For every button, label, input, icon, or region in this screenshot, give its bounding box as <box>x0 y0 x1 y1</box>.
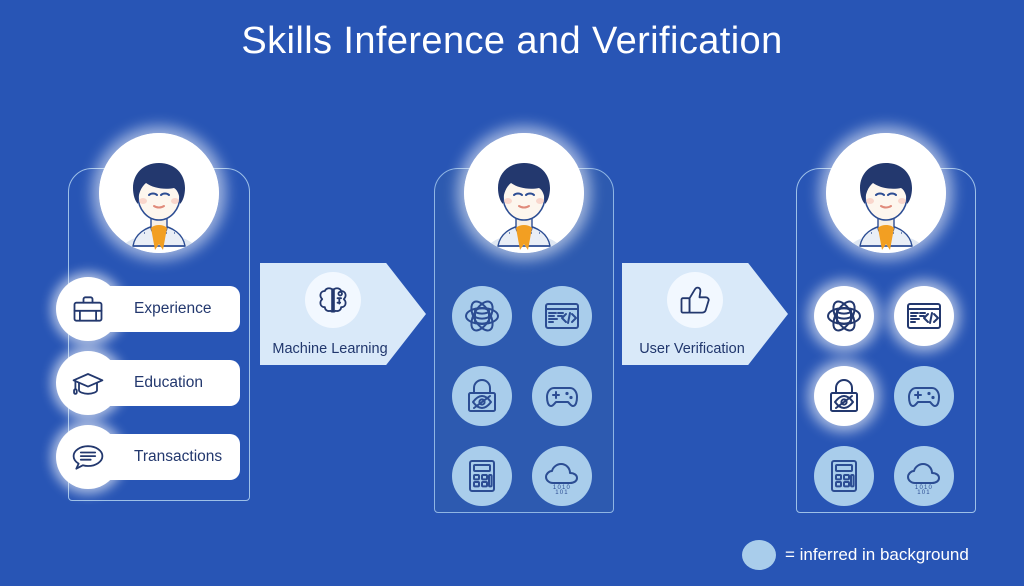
list-item-transactions[interactable]: Transactions <box>78 434 240 480</box>
graduation-cap-icon <box>56 351 120 415</box>
game-controller-icon <box>904 376 944 416</box>
code-window-icon <box>542 296 582 336</box>
code-window-icon <box>904 296 944 336</box>
skill-code-window[interactable] <box>532 286 592 346</box>
cloud-binary-row2: 101 <box>917 490 931 496</box>
legend-label: = inferred in background <box>785 545 969 565</box>
list-item-education[interactable]: Education <box>78 360 240 406</box>
atom-database-icon <box>462 296 502 336</box>
lock-privacy-icon <box>462 376 502 416</box>
diagram-canvas: Skills Inference and Verification <box>0 0 1024 586</box>
briefcase-icon <box>56 277 120 341</box>
brain-icon <box>305 272 361 328</box>
avatar <box>826 133 946 253</box>
game-controller-icon <box>542 376 582 416</box>
user-avatar-icon <box>99 133 219 253</box>
speech-bubble-icon <box>56 425 120 489</box>
page-title: Skills Inference and Verification <box>0 20 1024 63</box>
list-item-experience[interactable]: Experience <box>78 286 240 332</box>
arrow-label: User Verification <box>622 341 762 357</box>
arrow-label: Machine Learning <box>260 341 400 357</box>
arrow-machine-learning: Machine Learning <box>260 263 426 365</box>
skill-cloud-binary[interactable]: 1010 101 <box>894 446 954 506</box>
cloud-binary-icon: 1010 101 <box>542 456 582 496</box>
skill-lock-privacy[interactable] <box>814 366 874 426</box>
list-item-label: Experience <box>134 300 212 318</box>
arrow-user-verification: User Verification <box>622 263 788 365</box>
skill-calculator[interactable] <box>814 446 874 506</box>
avatar <box>99 133 219 253</box>
lock-privacy-icon <box>824 376 864 416</box>
skill-game-controller[interactable] <box>894 366 954 426</box>
skill-game-controller[interactable] <box>532 366 592 426</box>
avatar <box>464 133 584 253</box>
list-item-label: Transactions <box>134 448 222 466</box>
calculator-icon <box>462 456 502 496</box>
skill-cloud-binary[interactable]: 1010 101 <box>532 446 592 506</box>
skill-lock-privacy[interactable] <box>452 366 512 426</box>
user-avatar-icon <box>826 133 946 253</box>
user-avatar-icon <box>464 133 584 253</box>
cloud-binary-row2: 101 <box>555 490 569 496</box>
legend: = inferred in background <box>742 540 969 570</box>
thumbs-up-icon <box>667 272 723 328</box>
skill-code-window[interactable] <box>894 286 954 346</box>
skill-atom-database[interactable] <box>452 286 512 346</box>
cloud-binary-icon: 1010 101 <box>904 456 944 496</box>
skill-calculator[interactable] <box>452 446 512 506</box>
skill-atom-database[interactable] <box>814 286 874 346</box>
list-item-label: Education <box>134 374 203 392</box>
inferred-circle-swatch <box>742 540 776 570</box>
atom-database-icon <box>824 296 864 336</box>
calculator-icon <box>824 456 864 496</box>
